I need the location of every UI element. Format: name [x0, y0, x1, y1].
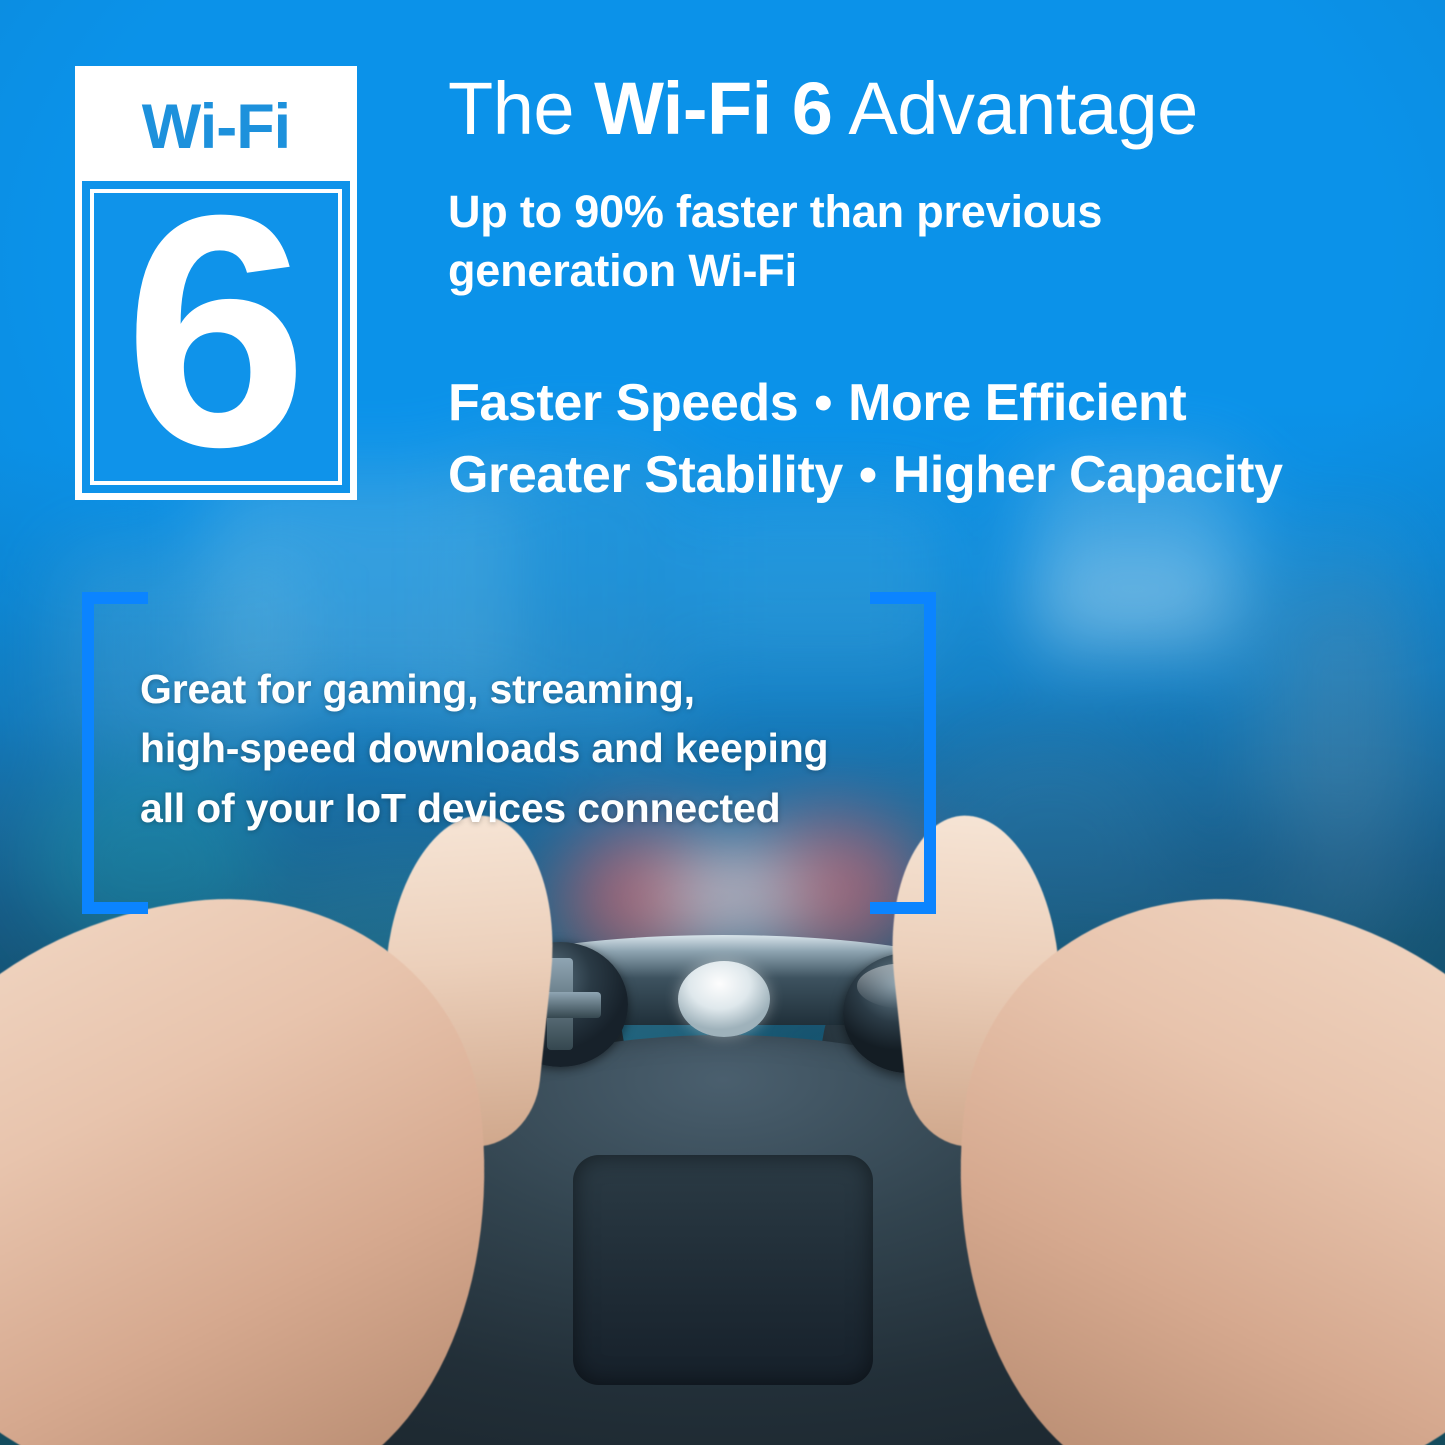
bullet-separator-icon: • — [798, 374, 848, 432]
wifi-6-logo-generation-number: 6 — [124, 209, 308, 453]
feature-line-2: Greater Stability•Higher Capacity — [448, 440, 1415, 512]
callout-text: Great for gaming, streaming, high-speed … — [140, 660, 930, 838]
subtitle-line-1: Up to 90% faster than previous — [448, 186, 1102, 237]
subtitle: Up to 90% faster than previousgeneration… — [448, 182, 1395, 301]
callout-line-3: all of your IoT devices connected — [140, 779, 930, 838]
feature-more-efficient: More Efficient — [848, 374, 1186, 432]
feature-greater-stability: Greater Stability — [448, 446, 843, 504]
controller-guide-button — [678, 961, 770, 1037]
controller-battery-pack — [573, 1155, 873, 1385]
feature-list: Faster Speeds•More Efficient Greater Sta… — [448, 368, 1415, 512]
wifi6-advantage-poster: Wi-Fi 6 The Wi-Fi 6 Advantage Up to 90% … — [0, 0, 1445, 1445]
headline-block: The Wi-Fi 6 Advantage Up to 90% faster t… — [448, 70, 1395, 300]
page-title-prefix: The — [448, 67, 594, 150]
feature-higher-capacity: Higher Capacity — [893, 446, 1283, 504]
controller-photo — [0, 825, 1445, 1445]
bokeh-blob — [690, 490, 950, 670]
bokeh-blob — [1035, 560, 1230, 630]
callout-line-1: Great for gaming, streaming, — [140, 660, 930, 719]
page-title: The Wi-Fi 6 Advantage — [448, 70, 1395, 148]
subtitle-line-2: generation Wi-Fi — [448, 245, 797, 296]
page-title-suffix: Advantage — [832, 67, 1197, 150]
feature-line-1: Faster Speeds•More Efficient — [448, 368, 1415, 440]
page-title-emphasis: Wi-Fi 6 — [594, 67, 832, 150]
bullet-separator-icon: • — [843, 446, 893, 504]
callout-line-2: high-speed downloads and keeping — [140, 719, 930, 778]
wifi-6-logo-panel: 6 — [90, 189, 342, 485]
feature-faster-speeds: Faster Speeds — [448, 374, 798, 432]
wifi-6-logo: Wi-Fi 6 — [75, 66, 357, 500]
